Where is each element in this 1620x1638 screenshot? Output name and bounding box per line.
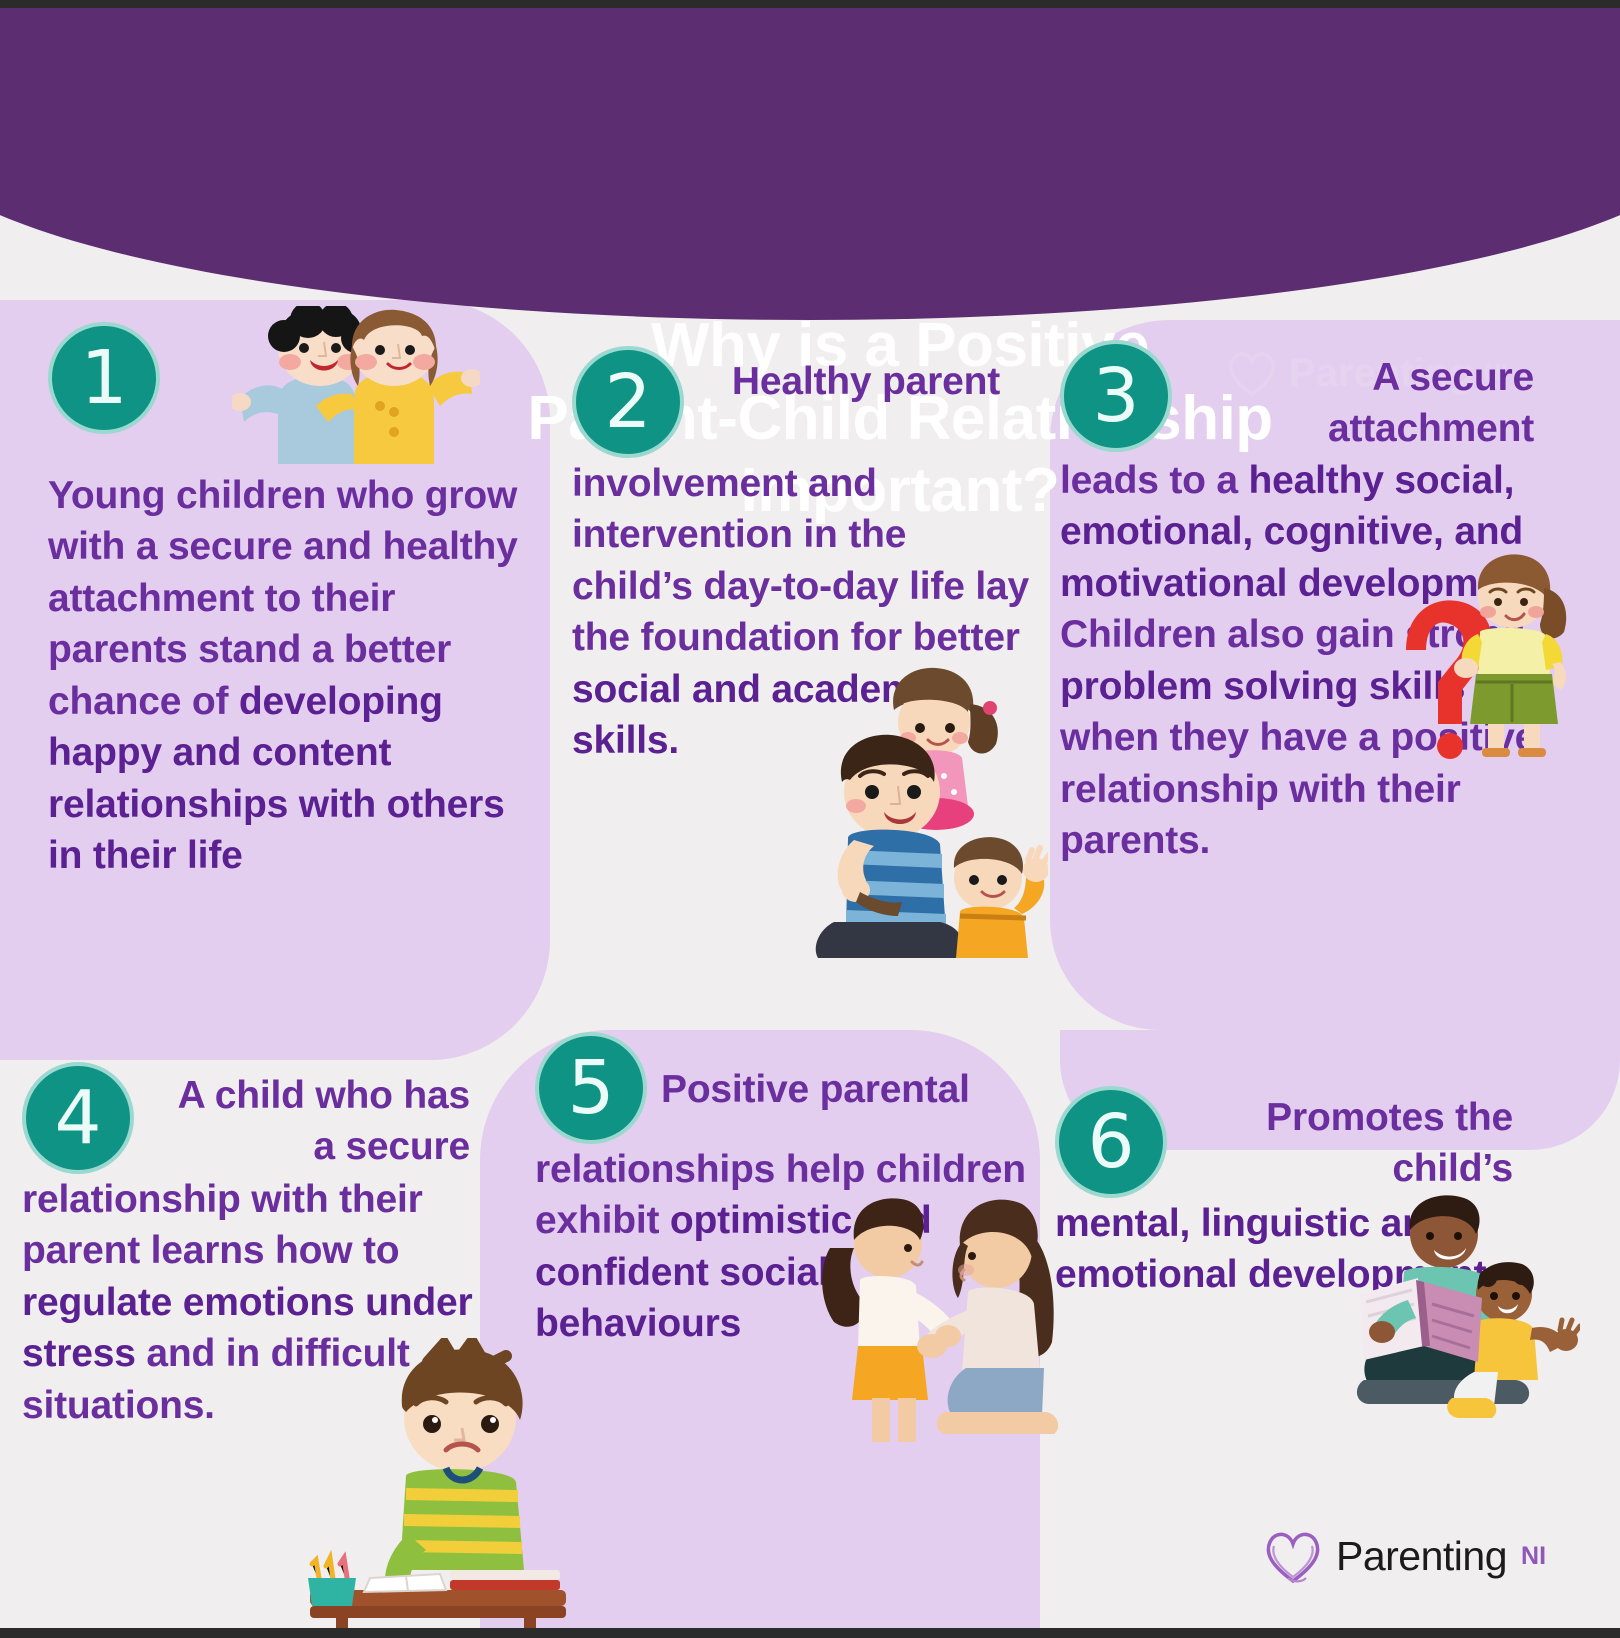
card-5-number-badge: 5 — [535, 1032, 647, 1144]
logo-suffix: NI — [1521, 1542, 1546, 1571]
card-3-header-row: 3 A secure attachment — [1060, 340, 1560, 455]
card-2-number-badge: 2 — [572, 346, 684, 458]
card-4-lead-text: A child who has a secure — [150, 1062, 470, 1173]
card-3-lead-text: A secure attachment — [1186, 340, 1534, 455]
card-5-lead-text: Positive parental — [661, 1032, 1035, 1115]
two-children-hugging-illustration — [232, 306, 480, 464]
card-2-header-row: 2 Healthy parent — [572, 346, 1032, 458]
card-6-header-row: 6 Promotes the child’s — [1055, 1086, 1525, 1198]
mother-and-daughter-holding-hands-illustration — [816, 1182, 1064, 1444]
card-4-header-row: 4 A child who has a secure — [22, 1062, 492, 1174]
header-banner — [0, 0, 1620, 320]
card-1-text: Young children who grow with a secure an… — [48, 470, 518, 882]
heart-outline-icon — [1262, 1528, 1324, 1584]
father-with-two-children-illustration — [812, 664, 1048, 958]
top-border-strip — [0, 0, 1620, 8]
card-2-text-plain: involvement and intervention in the chil… — [572, 462, 1029, 659]
bottom-border-strip — [0, 1628, 1620, 1638]
card-4-text-plain: relationship with their parent learns ho… — [22, 1178, 423, 1272]
card-1-number-badge: 1 — [48, 322, 160, 434]
card-3-number-badge: 3 — [1060, 340, 1172, 452]
card-6-number-badge: 6 — [1055, 1086, 1167, 1198]
card-2-lead-text: Healthy parent — [700, 346, 1000, 407]
card-4-number-badge: 4 — [22, 1062, 134, 1174]
infographic-canvas: Parenting NI Why is a Positive Parent-Ch… — [0, 0, 1620, 1638]
card-3-text-plain: leads to a — [1060, 459, 1249, 502]
card-6-lead-text: Promotes the child’s — [1183, 1086, 1513, 1195]
card-5-header-row: 5 Positive parental — [535, 1032, 1035, 1144]
father-reading-book-with-child-illustration — [1352, 1190, 1580, 1420]
boy-at-desk-studying-illustration — [300, 1338, 570, 1638]
logo-brand: Parenting — [1336, 1533, 1507, 1580]
parenting-ni-logo[interactable]: Parenting NI — [1262, 1528, 1546, 1584]
girl-with-question-mark-illustration — [1392, 548, 1582, 760]
